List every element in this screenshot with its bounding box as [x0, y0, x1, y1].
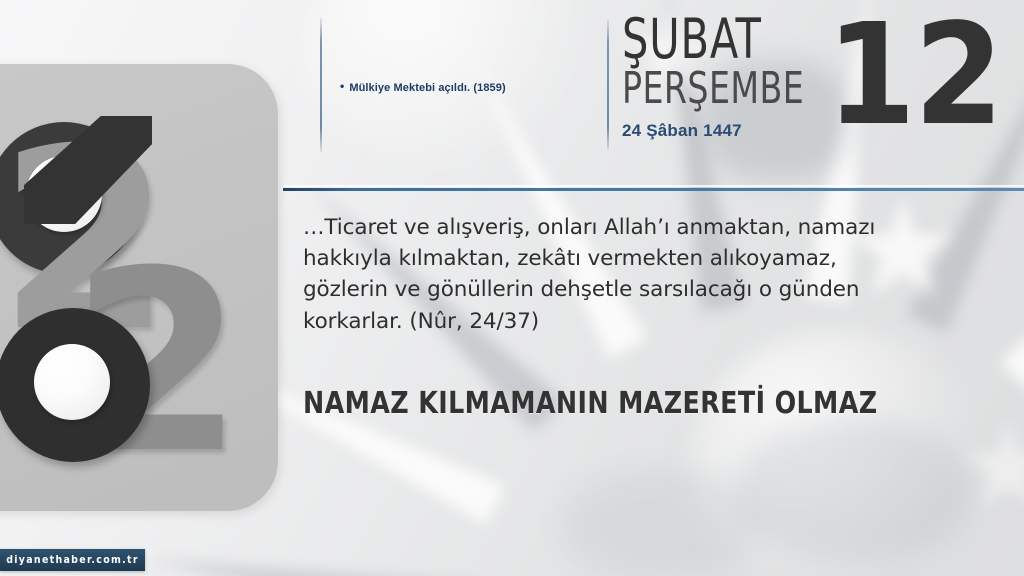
weekday-label: PERŞEMBE	[622, 65, 804, 113]
motif-shadow-3	[560, 470, 760, 576]
month-label: ŞUBAT	[622, 14, 804, 65]
logo-digit-6-bowl	[0, 308, 150, 462]
verse-text: …Ticaret ve alışveriş, onları Allah’ı an…	[303, 212, 915, 337]
motif-highlight-2	[690, 330, 990, 576]
day-number: 12	[826, 6, 1002, 146]
events-list: •Mülkiye Mektebi açıldı. (1859)	[340, 78, 590, 97]
vertical-rule-left	[320, 18, 322, 152]
year-logo-2026: 2 2	[0, 122, 248, 462]
divider-highlight	[283, 185, 1024, 187]
footer-url-bar[interactable]: diyanethaber.com.tr	[0, 549, 145, 571]
motif-star-3	[960, 420, 1024, 516]
calendar-page: 2 2 •Mülkiye Mektebi açıldı. (1859) ŞUBA…	[0, 0, 1024, 576]
date-block: ŞUBAT PERŞEMBE 24 Şâban 1447	[622, 14, 839, 141]
headline-text: NAMAZ KILMAMANIN MAZERETİ OLMAZ	[303, 386, 923, 421]
footer-url-label: diyanethaber.com.tr	[6, 554, 139, 566]
list-item: •Mülkiye Mektebi açıldı. (1859)	[340, 78, 590, 97]
horizontal-divider	[283, 188, 1024, 191]
vertical-rule-right	[607, 20, 609, 150]
event-text: Mülkiye Mektebi açıldı. (1859)	[349, 82, 505, 94]
motif-shadow-2	[740, 420, 970, 560]
bullet-icon: •	[340, 78, 344, 95]
hijri-date-label: 24 Şâban 1447	[622, 121, 839, 141]
year-logo-panel: 2 2	[0, 64, 278, 511]
